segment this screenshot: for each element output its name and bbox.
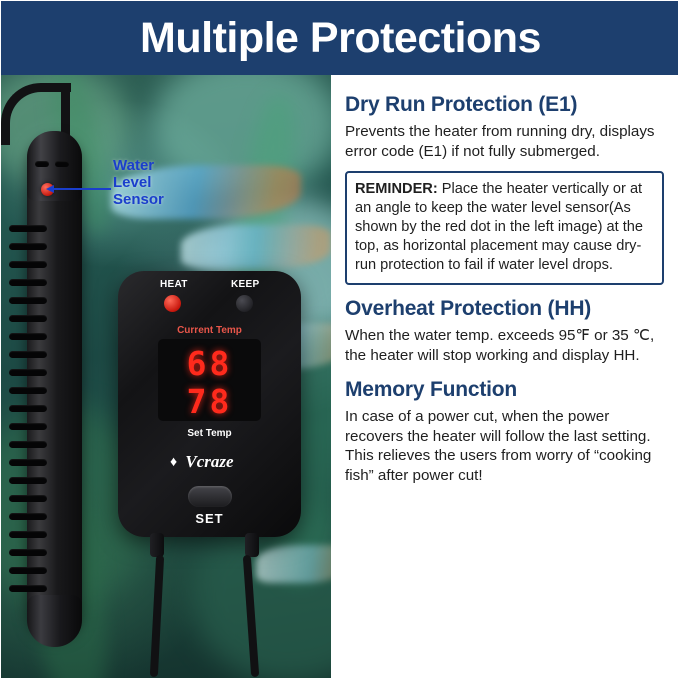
features-column: Dry Run Protection (E1) Prevents the hea…	[331, 75, 679, 679]
page-title: Multiple Protections	[140, 14, 541, 63]
callout-line-3: Sensor	[113, 191, 164, 208]
heater-vent	[9, 369, 47, 376]
heater-vent	[9, 315, 47, 322]
power-cord	[150, 555, 164, 677]
callout-line-2: Level	[113, 174, 164, 191]
heater-vent	[9, 333, 47, 340]
reminder-box: REMINDER: Place the heater vertically or…	[345, 171, 664, 285]
heater-vent	[9, 423, 47, 430]
brand-name: Vcraze	[118, 452, 301, 472]
keep-label: KEEP	[231, 279, 259, 290]
heater-vent	[9, 261, 47, 268]
heater-vent	[9, 243, 47, 250]
heater-tube-bottom	[27, 595, 82, 647]
heater-vent	[9, 513, 47, 520]
heater-vent	[9, 567, 47, 574]
heat-led-icon	[164, 295, 181, 312]
heater-vent	[9, 297, 47, 304]
cord-clip	[245, 533, 259, 557]
heater-vent	[9, 531, 47, 538]
product-photo: Water Level Sensor HEAT KEEP Current Tem…	[1, 75, 331, 679]
current-temp-value: 68	[158, 344, 261, 383]
heater-vent	[35, 161, 49, 167]
set-button-label: SET	[118, 511, 301, 526]
heater-vent	[9, 459, 47, 466]
section-title-memory: Memory Function	[345, 378, 664, 402]
heater-vent	[9, 351, 47, 358]
heater-vent	[9, 387, 47, 394]
set-button[interactable]	[188, 486, 232, 507]
section-body-overheat: When the water temp. exceeds 95℉ or 35 ℃…	[345, 326, 664, 365]
heater-vent	[55, 161, 69, 167]
fish	[256, 545, 331, 583]
controller-unit: HEAT KEEP Current Temp 68 78 Set Temp ♦ …	[118, 271, 301, 537]
heater-vent	[9, 405, 47, 412]
cord-clip	[150, 533, 164, 557]
set-temp-label: Set Temp	[118, 428, 301, 439]
heater-vent	[9, 585, 47, 592]
heater-vent	[9, 495, 47, 502]
heat-label: HEAT	[160, 279, 188, 290]
callout-line-1: Water	[113, 157, 164, 174]
current-temp-label: Current Temp	[118, 325, 301, 336]
section-title-overheat: Overheat Protection (HH)	[345, 297, 664, 321]
infographic-page: Multiple Protections	[0, 0, 679, 679]
section-body-memory: In case of a power cut, when the power r…	[345, 407, 664, 485]
section-title-dry-run: Dry Run Protection (E1)	[345, 93, 664, 117]
set-temp-value: 78	[158, 382, 261, 421]
section-body-dry-run: Prevents the heater from running dry, di…	[345, 122, 664, 161]
reminder-label: REMINDER:	[355, 181, 438, 197]
heater-vent	[9, 477, 47, 484]
heater-vent	[9, 549, 47, 556]
header-banner: Multiple Protections	[1, 1, 679, 75]
callout-arrow-icon	[53, 188, 111, 190]
heater-vent	[9, 279, 47, 286]
heater-vent	[9, 225, 47, 232]
keep-led-icon	[236, 295, 253, 312]
temperature-display: 68 78	[158, 339, 261, 421]
heater-vent	[9, 441, 47, 448]
water-level-sensor-label: Water Level Sensor	[113, 157, 164, 208]
fish	[181, 225, 331, 269]
